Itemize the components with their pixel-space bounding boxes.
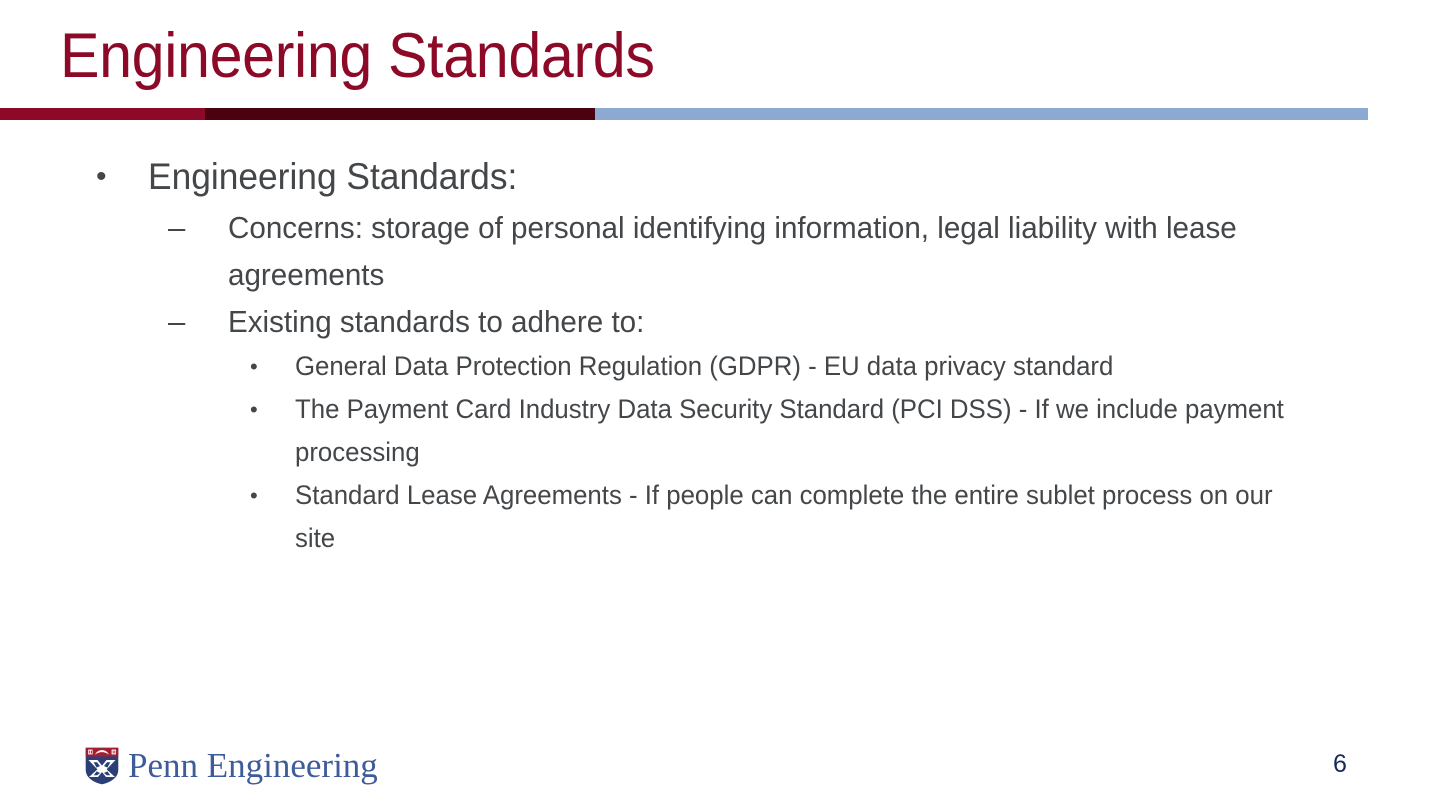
page-number: 6 [1320,748,1360,780]
bullet-marker-icon: • [250,474,295,517]
page-title: Engineering Standards [60,16,1301,96]
penn-engineering-logo: Penn Engineering [84,744,378,788]
bullet-text: General Data Protection Regulation (GDPR… [295,345,1350,388]
bullet-level3: • The Payment Card Industry Data Securit… [0,388,1400,474]
bullet-marker-icon: • [250,388,295,431]
slide-title-block: Engineering Standards [60,16,1380,104]
rule-segment-dark-maroon [205,108,595,120]
bullet-text: Concerns: storage of personal identifyin… [228,204,1347,298]
bullet-level3: • Standard Lease Agreements - If people … [0,474,1400,560]
rule-segment-blue [595,108,1368,120]
bullet-level1: • Engineering Standards: [0,152,1400,202]
slide-body: • Engineering Standards: – Concerns: sto… [0,152,1400,560]
bullet-level2: – Concerns: storage of personal identify… [0,204,1400,298]
bullet-text: The Payment Card Industry Data Security … [295,388,1350,474]
bullet-marker-icon: • [96,152,148,202]
penn-shield-icon [84,746,120,786]
bullet-level2: – Existing standards to adhere to: [0,298,1400,345]
bullet-text: Existing standards to adhere to: [228,298,1347,345]
dash-marker-icon: – [168,204,228,251]
title-divider-rule [0,108,1368,120]
bullet-text: Standard Lease Agreements - If people ca… [295,474,1350,560]
bullet-marker-icon: • [250,345,295,388]
bullet-level3: • General Data Protection Regulation (GD… [0,345,1400,388]
slide-canvas: Engineering Standards • Engineering Stan… [0,0,1440,810]
rule-segment-maroon [0,108,205,120]
penn-engineering-wordmark: Penn Engineering [128,746,378,786]
dash-marker-icon: – [168,298,228,345]
bullet-text: Engineering Standards: [148,152,1344,202]
